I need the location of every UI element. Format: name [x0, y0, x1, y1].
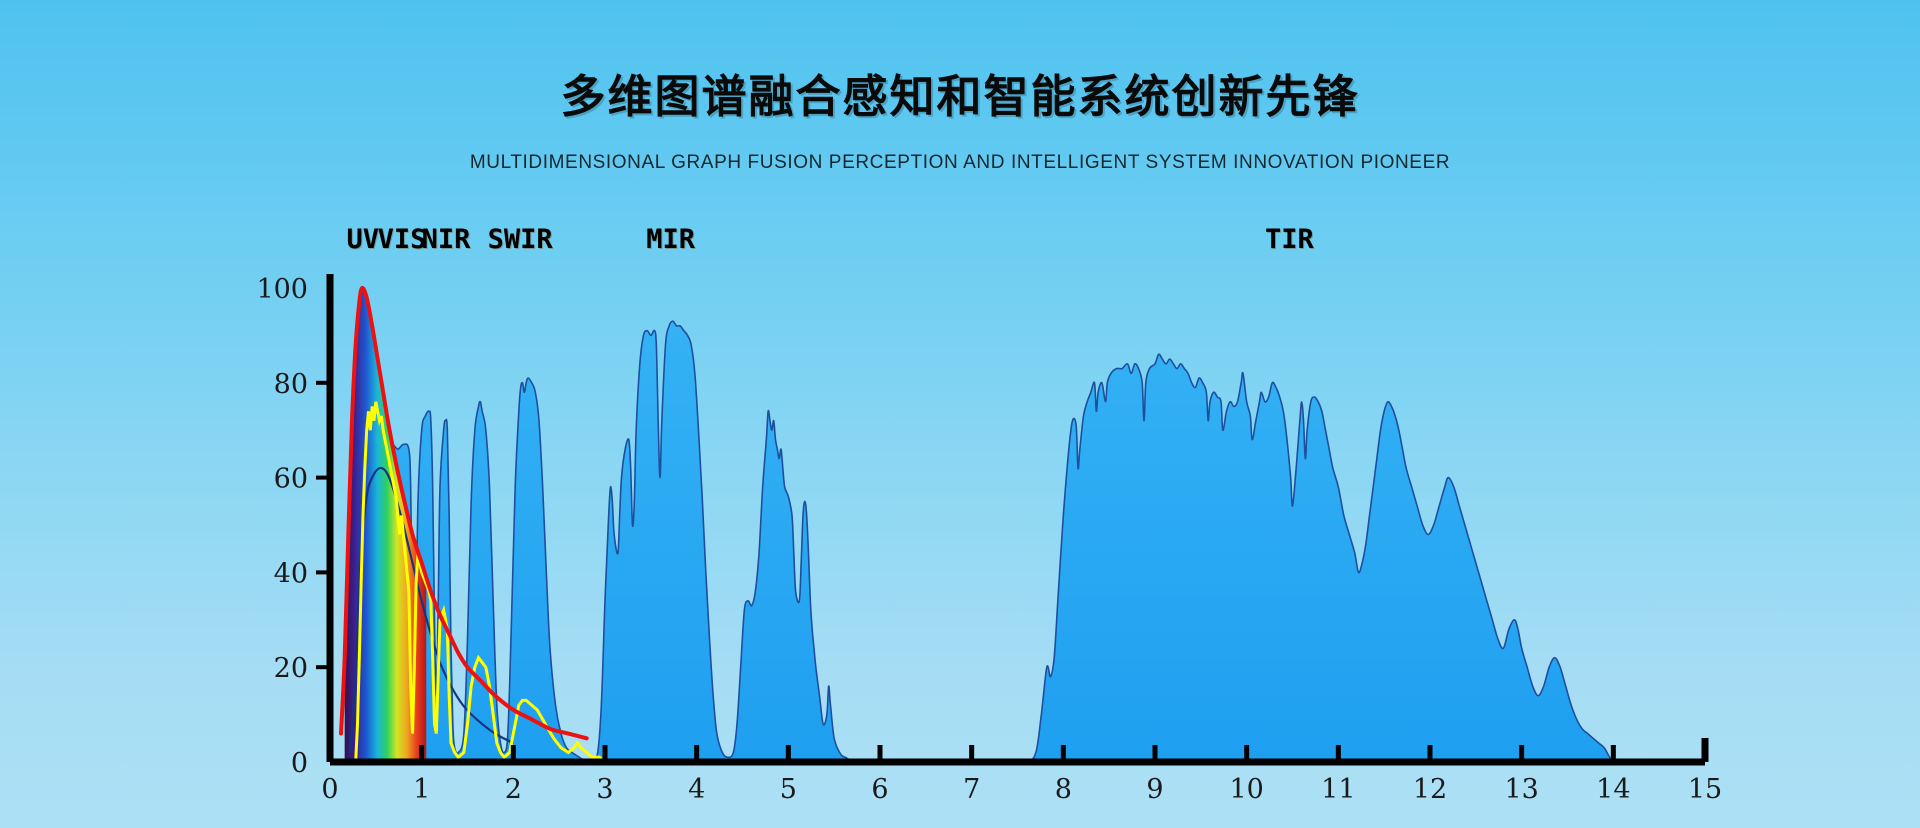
x-tick-label: 1: [413, 774, 430, 805]
spectrum-chart: 0204060801000123456789101112131415: [0, 0, 1920, 828]
y-tick-label: 20: [274, 653, 308, 684]
y-tick-label: 60: [274, 464, 308, 495]
y-tick-label: 0: [291, 748, 308, 779]
x-tick-label: 10: [1229, 774, 1263, 805]
x-tick-label: 4: [688, 774, 705, 805]
y-tick-label: 80: [274, 369, 308, 400]
x-tick-label: 15: [1688, 774, 1722, 805]
transmission-area: [354, 321, 1614, 763]
x-tick-label: 14: [1596, 774, 1630, 805]
y-tick-label: 100: [256, 274, 308, 305]
x-tick-label: 6: [871, 774, 888, 805]
x-tick-label: 2: [505, 774, 522, 805]
x-tick-label: 5: [780, 774, 797, 805]
x-tick-label: 11: [1321, 774, 1355, 805]
x-tick-label: 13: [1504, 774, 1538, 805]
x-tick-label: 7: [963, 774, 980, 805]
x-tick-label: 8: [1055, 774, 1072, 805]
x-tick-label: 12: [1413, 774, 1447, 805]
y-tick-label: 40: [274, 558, 308, 589]
x-tick-label: 0: [321, 774, 338, 805]
x-tick-label: 3: [596, 774, 613, 805]
x-tick-label: 9: [1146, 774, 1163, 805]
